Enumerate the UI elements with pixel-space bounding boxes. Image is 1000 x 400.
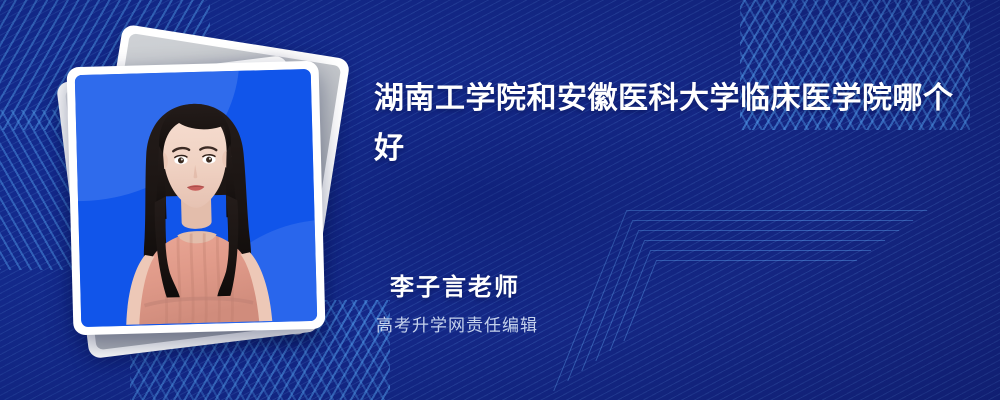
banner-content: 湖南工学院和安徽医科大学临床医学院哪个好 李子言老师 高考升学网责任编辑 <box>374 0 974 400</box>
author-portrait <box>75 69 317 326</box>
author-role: 高考升学网责任编辑 <box>376 314 538 338</box>
photo-card-stack <box>62 40 347 350</box>
article-banner: 湖南工学院和安徽医科大学临床医学院哪个好 李子言老师 高考升学网责任编辑 <box>0 0 1000 400</box>
author-name: 李子言老师 <box>390 272 538 304</box>
article-headline: 湖南工学院和安徽医科大学临床医学院哪个好 <box>374 74 954 174</box>
photo-card-front-inner <box>75 69 318 327</box>
author-byline: 李子言老师 高考升学网责任编辑 <box>390 272 538 338</box>
photo-card-front <box>67 61 326 336</box>
